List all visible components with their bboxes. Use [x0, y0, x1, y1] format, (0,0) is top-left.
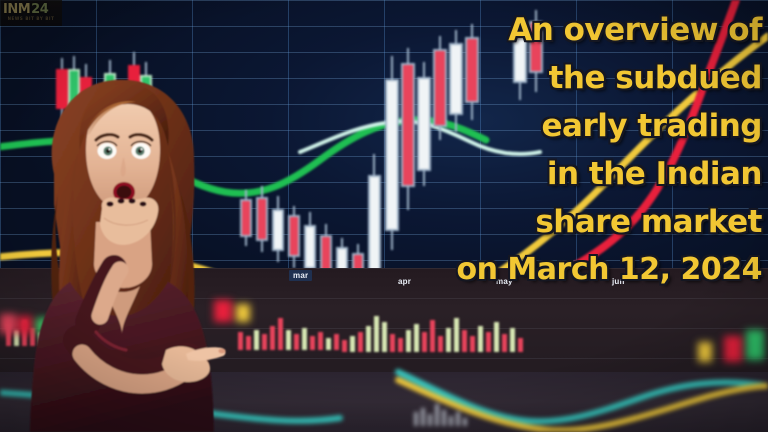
logo-tagline: NEWS BIT BY BIT — [3, 16, 59, 22]
headline-line-4: in the Indian — [362, 150, 762, 198]
logo-text-24: 24 — [31, 3, 48, 16]
axis-label-mar: mar — [289, 270, 312, 281]
headline-line-5: share market — [362, 198, 762, 246]
headline-text: An overview of the subdued early trading… — [362, 6, 762, 294]
headline-line-6: on March 12, 2024 — [362, 246, 762, 294]
promo-image: mar apr may jun — [0, 0, 768, 432]
inm24-logo[interactable]: INM 24 NEWS BIT BY BIT — [0, 0, 62, 26]
headline-line-3: early trading — [362, 102, 762, 150]
surprised-woman-photo — [18, 54, 228, 432]
headline-line-1: An overview of — [362, 6, 762, 54]
logo-text-inm: INM — [3, 3, 30, 16]
logo-wordmark: INM 24 — [3, 2, 59, 16]
headline-line-2: the subdued — [362, 54, 762, 102]
